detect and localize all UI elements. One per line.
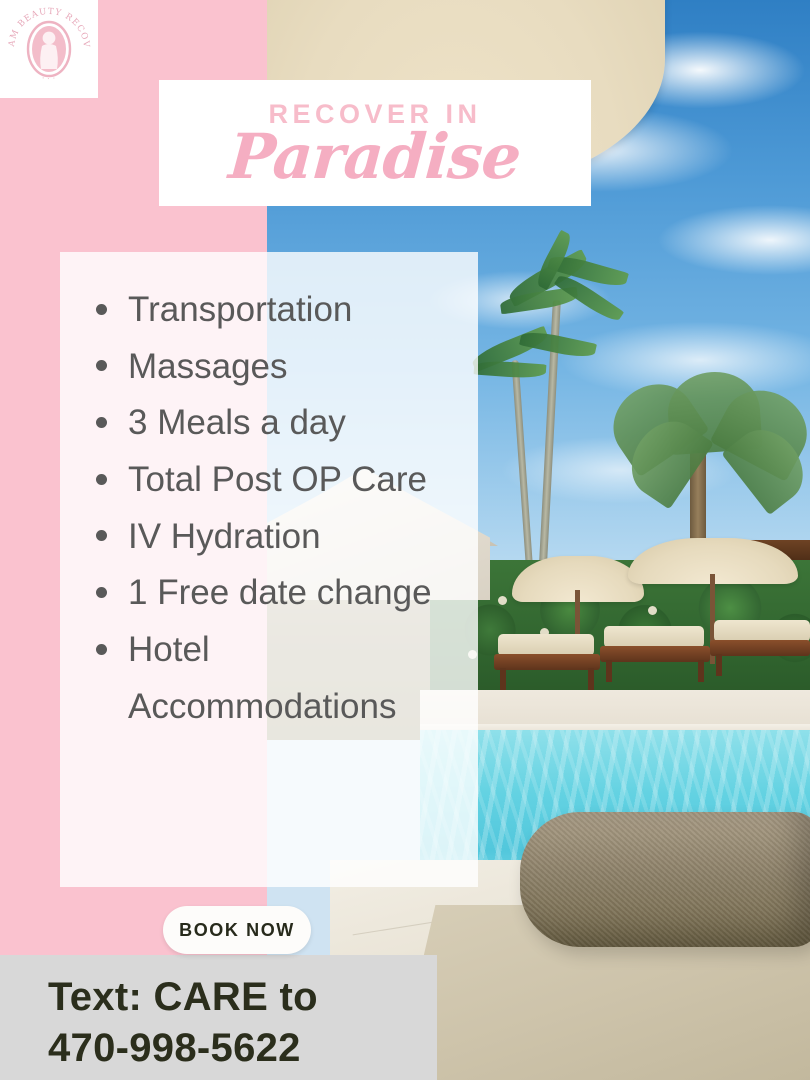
features-panel: Transportation Massages 3 Meals a day To… xyxy=(60,252,478,887)
dream-beauty-recovery-logo-icon: DREAM BEAUTY RECOVERY • • • xyxy=(5,5,93,93)
rolled-towel xyxy=(520,812,810,947)
list-item: Total Post OP Care xyxy=(94,452,456,509)
flyer-canvas: DREAM BEAUTY RECOVERY • • • RECOVER IN P… xyxy=(0,0,810,1080)
list-item: Massages xyxy=(94,339,456,396)
headline-script: Paradise xyxy=(227,126,523,188)
list-item: 1 Free date change xyxy=(94,565,456,622)
list-item: IV Hydration xyxy=(94,509,456,566)
list-item: Hotel Accommodations xyxy=(94,622,456,735)
contact-line-1: Text: CARE to xyxy=(48,972,448,1023)
list-item: 3 Meals a day xyxy=(94,395,456,452)
list-item: Transportation xyxy=(94,282,456,339)
contact-block: Text: CARE to 470-998-5622 xyxy=(48,972,448,1074)
features-list: Transportation Massages 3 Meals a day To… xyxy=(60,252,478,736)
contact-line-2: 470-998-5622 xyxy=(48,1023,448,1074)
headline-box: RECOVER IN Paradise xyxy=(159,80,591,206)
svg-text:• • •: • • • xyxy=(42,75,57,81)
book-now-button[interactable]: BOOK NOW xyxy=(163,906,311,954)
brand-logo: DREAM BEAUTY RECOVERY • • • xyxy=(0,0,98,98)
